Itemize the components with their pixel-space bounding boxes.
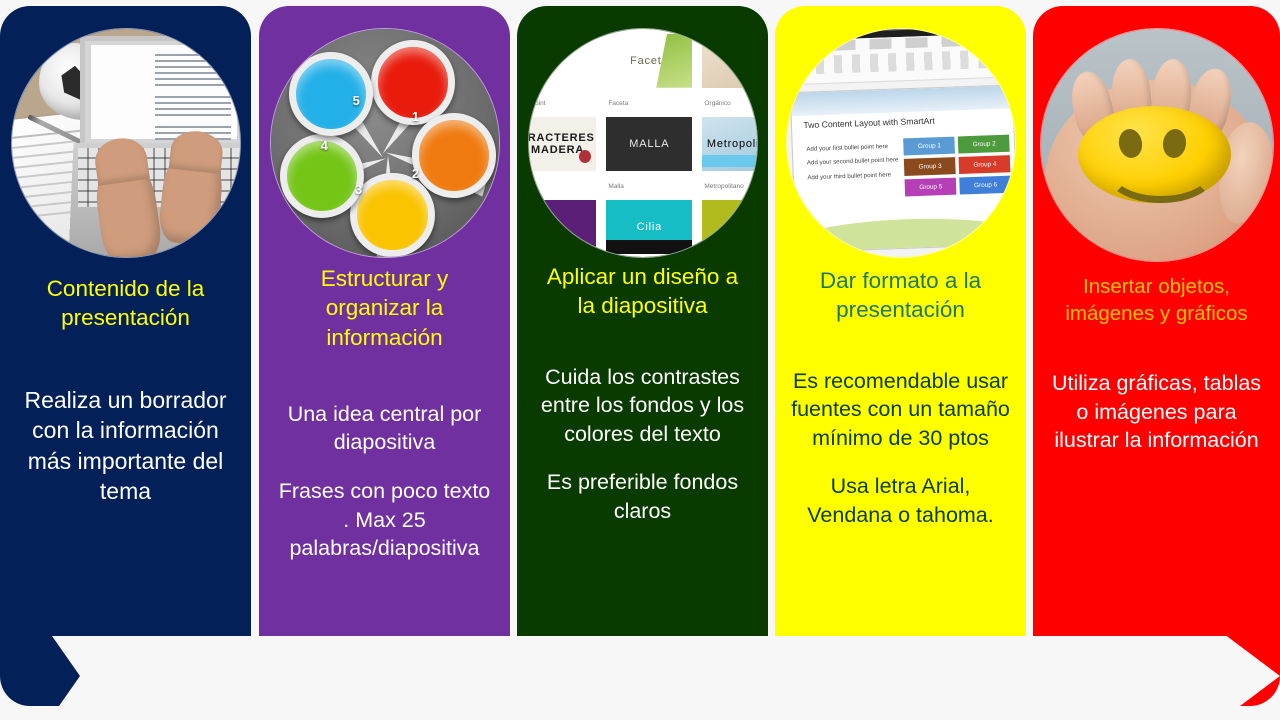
- cycle-diagram-illustration: 1 2 3 4 5: [271, 29, 499, 257]
- theme-cell-7: [528, 200, 597, 258]
- themes-gallery-illustration: PowerPoint Faceta Faceta Orgánico CARACT…: [529, 29, 757, 257]
- laptop-typing-illustration: [12, 29, 240, 257]
- titlebar-chip-1: [813, 28, 846, 33]
- theme-cell-9: [702, 200, 757, 258]
- column-4-body-line-2: Usa letra Arial, Vendana o tahoma.: [790, 472, 1012, 529]
- process-column-1[interactable]: Contenido de la presentación Realiza un …: [0, 6, 251, 706]
- smiley-mouth: [1105, 139, 1217, 204]
- column-3-body: Cuida los contrastes entre los fondos y …: [532, 363, 754, 526]
- smiley-ball-illustration: [1041, 29, 1273, 261]
- column-2-body-line-1: Una idea central por diapositiva: [274, 400, 496, 457]
- column-3-title: Aplicar un diseño a la diapositiva: [536, 262, 750, 321]
- slide-bullets: Add your first bullet point here Add you…: [806, 142, 905, 188]
- cycle-diagram-photo: 1 2 3 4 5: [270, 28, 500, 258]
- infographic-board: Contenido de la presentación Realiza un …: [0, 0, 1280, 720]
- slide-sky-band: [791, 86, 1013, 116]
- powerpoint-themes-gallery-photo: PowerPoint Faceta Faceta Orgánico CARACT…: [528, 28, 758, 258]
- column-4-title: Dar formato a la presentación: [794, 266, 1008, 325]
- process-column-3[interactable]: PowerPoint Faceta Faceta Orgánico CARACT…: [517, 6, 768, 706]
- theme-caption-6: Metropolitano: [704, 183, 743, 190]
- process-column-2[interactable]: 1 2 3 4 5 Estructurar y organizar la inf…: [259, 6, 510, 706]
- process-column-4[interactable]: Two Content Layout with SmartArt Add you…: [775, 6, 1026, 706]
- theme-cell-4: CARACTERES DE MADERA Madera: [528, 117, 597, 192]
- column-5-body: Utiliza gráficas, tablas o imágenes para…: [1046, 369, 1268, 455]
- smartart-group-3: Group 3: [904, 157, 956, 176]
- column-2-body: Una idea central por diapositiva Frases …: [274, 400, 496, 563]
- powerpoint-window-illustration: Two Content Layout with SmartArt Add you…: [786, 28, 1016, 258]
- column-1-title: Contenido de la presentación: [19, 274, 233, 333]
- column-2-body-line-2: Frases con poco texto . Max 25 palabras/…: [274, 477, 496, 563]
- smartart-group-4: Group 4: [958, 155, 1010, 174]
- powerpoint-slide: Two Content Layout with SmartArt Add you…: [789, 84, 1015, 253]
- column-5-body-line-1: Utiliza gráficas, tablas o imágenes para…: [1046, 369, 1268, 455]
- smartart-group-1: Group 1: [903, 137, 955, 156]
- cycle-step-circle-5: [289, 52, 373, 136]
- column-5-title: Insertar objetos, imágenes y gráficos: [1050, 274, 1264, 327]
- theme-caption-2: Faceta: [608, 100, 628, 107]
- process-column-5[interactable]: Insertar objetos, imágenes y gráficos Ut…: [1033, 6, 1280, 706]
- theme-caption-3: Orgánico: [704, 100, 730, 107]
- cycle-step-number-3: 3: [355, 182, 362, 197]
- theme-thumb-6: Metropolitano: [702, 117, 757, 171]
- theme-thumb-3: [702, 34, 757, 88]
- powerpoint-ribbon: [788, 33, 1008, 86]
- laptop-typing-photo: [11, 28, 241, 258]
- column-1-body-line-1: Realiza un borrador con la información m…: [15, 385, 237, 507]
- theme-caption-4: Madera: [528, 183, 535, 190]
- theme-caption-1: PowerPoint: [528, 100, 546, 107]
- theme-thumb-4: CARACTERES DE MADERA: [528, 117, 597, 171]
- theme-cell-1: PowerPoint: [528, 34, 597, 109]
- column-2-title: Estructurar y organizar la información: [278, 264, 492, 352]
- cycle-step-number-1: 1: [412, 109, 419, 124]
- theme-cell-3: Orgánico: [702, 34, 757, 109]
- theme-cell-2: Faceta Faceta: [606, 34, 692, 109]
- cycle-step-circle-2: [412, 113, 496, 197]
- theme-thumb-7: [528, 200, 597, 254]
- smartart-group-2: Group 2: [958, 135, 1010, 154]
- column-4-body-line-1: Es recomendable usar fuentes con un tama…: [790, 367, 1012, 453]
- theme-thumb-8: Cilia: [606, 200, 692, 254]
- theme-thumb-2: Faceta: [606, 34, 692, 88]
- theme-cell-6: Metropolitano Metropolitano: [702, 117, 757, 192]
- theme-grid: PowerPoint Faceta Faceta Orgánico CARACT…: [528, 34, 758, 258]
- column-1-body: Realiza un borrador con la información m…: [15, 385, 237, 507]
- smartart-group-grid: Group 1 Group 2 Group 3 Group 4 Group 5 …: [903, 135, 1011, 197]
- theme-thumb-1: [528, 34, 597, 88]
- titlebar-chip-2: [860, 28, 911, 32]
- theme-thumb-9: [702, 200, 757, 254]
- laptop-screen: [80, 36, 241, 143]
- smartart-group-5: Group 5: [904, 178, 956, 197]
- slide-hill-graphic: [789, 215, 1015, 253]
- powerpoint-smartart-slide-photo: Two Content Layout with SmartArt Add you…: [786, 28, 1016, 258]
- cycle-step-number-4: 4: [321, 138, 328, 153]
- column-4-body: Es recomendable usar fuentes con un tama…: [790, 367, 1012, 530]
- cycle-step-number-2: 2: [412, 166, 419, 181]
- slide-bullet-1: Add your first bullet point here: [806, 142, 904, 155]
- smiley-stress-ball-photo: [1040, 28, 1274, 262]
- ribbon-tools: [797, 50, 998, 75]
- theme-cell-8: Cilia: [606, 200, 692, 258]
- slide-bullet-3: Add your third bullet point here: [807, 170, 905, 183]
- cycle-step-number-5: 5: [353, 93, 360, 108]
- document-page: [91, 45, 237, 139]
- slide-bullet-2: Add your second bullet point here: [806, 156, 904, 169]
- column-3-body-line-2: Es preferible fondos claros: [532, 468, 754, 525]
- column-3-body-line-1: Cuida los contrastes entre los fondos y …: [532, 363, 754, 449]
- theme-cell-5: MALLA Malla: [606, 117, 692, 192]
- smiley-ball: [1078, 106, 1231, 203]
- smartart-group-6: Group 6: [959, 176, 1011, 195]
- theme-caption-5: Malla: [608, 183, 624, 190]
- theme-thumb-5: MALLA: [606, 117, 692, 171]
- slide-title: Two Content Layout with SmartArt: [803, 115, 935, 130]
